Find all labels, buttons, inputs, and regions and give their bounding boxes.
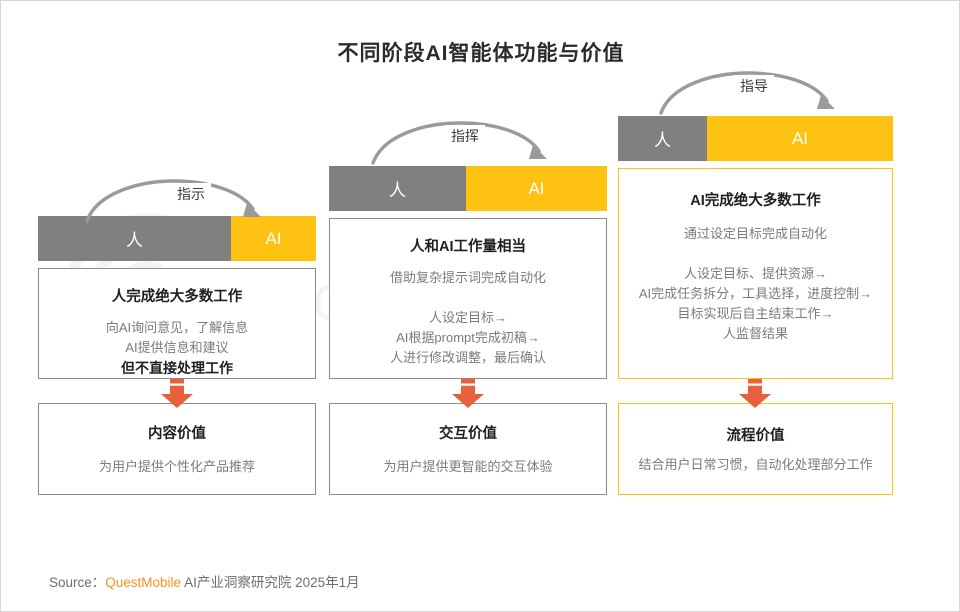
stage-box-line: 人设定目标→ — [330, 308, 606, 328]
stage-box-3: AI完成绝大多数工作 通过设定目标完成自动化 人设定目标、提供资源→ AI完成任… — [618, 168, 893, 379]
stage-box-line: 借助复杂提示词完成自动化 — [330, 268, 606, 288]
value-box-desc-2: 为用户提供更智能的交互体验 — [330, 457, 606, 477]
arrow-label-1: 指示 — [171, 183, 211, 205]
split-bar-3: 人 AI — [618, 116, 893, 161]
bar-segment-human-2: 人 — [329, 166, 466, 211]
down-arrow-icon-1 — [160, 379, 194, 409]
stage-box-line: AI根据prompt完成初稿→ — [330, 328, 606, 348]
stage-box-line: AI提供信息和建议 — [39, 338, 315, 358]
stage-box-line: 向AI询问意见，了解信息 — [39, 318, 315, 338]
value-box-1: 内容价值 为用户提供个性化产品推荐 — [38, 403, 316, 495]
stage-box-line: AI完成任务拆分，工具选择，进度控制→ — [619, 284, 892, 304]
stage-box-title-2: 人和AI工作量相当 — [330, 235, 606, 256]
value-box-title-1: 内容价值 — [39, 422, 315, 443]
value-box-title-3: 流程价值 — [619, 424, 892, 445]
value-box-desc-1: 为用户提供个性化产品推荐 — [39, 457, 315, 477]
value-box-3: 流程价值 结合用户日常习惯，自动化处理部分工作 — [618, 403, 893, 495]
page-title: 不同阶段AI智能体功能与价值 — [1, 37, 960, 67]
value-box-title-2: 交互价值 — [330, 422, 606, 443]
stage-box-line: 通过设定目标完成自动化 — [619, 224, 892, 244]
value-box-2: 交互价值 为用户提供更智能的交互体验 — [329, 403, 607, 495]
stage-box-line — [619, 244, 892, 264]
stage-box-2: 人和AI工作量相当 借助复杂提示词完成自动化 人设定目标→ AI根据prompt… — [329, 218, 607, 379]
bar-segment-human-3: 人 — [618, 116, 707, 161]
bar-segment-ai-2: AI — [466, 166, 607, 211]
stage-box-line: 目标实现后自主结束工作→ — [619, 304, 892, 324]
source-footer: Source：QuestMobile AI产业洞察研究院 2025年1月 — [49, 571, 360, 591]
stage-box-title-1: 人完成绝大多数工作 — [39, 285, 315, 306]
stage-box-line — [330, 288, 606, 308]
diagram-canvas: QuestMobile 不同阶段AI智能体功能与价值 指示 人 AI 人完成绝大… — [0, 0, 960, 612]
source-brand: QuestMobile — [105, 575, 181, 590]
stage-box-line: 人设定目标、提供资源→ — [619, 264, 892, 284]
value-box-desc-3: 结合用户日常习惯，自动化处理部分工作 — [619, 455, 892, 475]
down-arrow-icon-3 — [738, 379, 772, 409]
stage-box-line: 但不直接处理工作 — [39, 358, 315, 378]
stage-box-line: 人进行修改调整，最后确认 — [330, 348, 606, 368]
stage-box-title-3: AI完成绝大多数工作 — [619, 189, 892, 210]
stage-box-1: 人完成绝大多数工作 向AI询问意见，了解信息 AI提供信息和建议 但不直接处理工… — [38, 268, 316, 379]
bar-segment-ai-3: AI — [707, 116, 893, 161]
stage-box-line: 人监督结果 — [619, 324, 892, 344]
down-arrow-icon-2 — [451, 379, 485, 409]
arrow-label-3: 指导 — [734, 75, 774, 97]
split-bar-2: 人 AI — [329, 166, 607, 211]
source-rest: AI产业洞察研究院 2025年1月 — [181, 575, 360, 590]
arrow-label-2: 指挥 — [445, 125, 485, 147]
source-label: Source： — [49, 575, 105, 590]
